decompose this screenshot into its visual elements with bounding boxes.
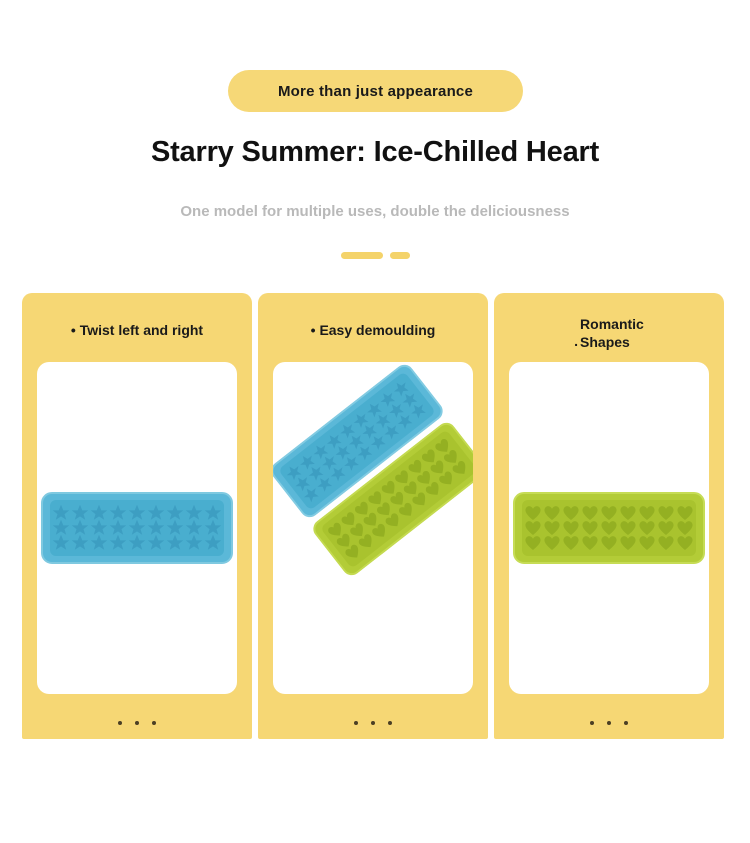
dot — [118, 721, 122, 725]
feature-card-romantic[interactable]: . Romantic Shapes — [494, 293, 724, 739]
divider — [0, 252, 750, 259]
feature-card-title: • Twist left and right — [22, 321, 252, 339]
feature-card-image-panel — [273, 362, 473, 694]
ice-tray-green-heart-icon — [513, 492, 705, 564]
dot — [590, 721, 594, 725]
dot — [388, 721, 392, 725]
dot — [152, 721, 156, 725]
card-dots-indicator[interactable] — [22, 721, 252, 725]
page-title: Starry Summer: Ice-Chilled Heart — [0, 136, 750, 169]
dot — [624, 721, 628, 725]
dot — [135, 721, 139, 725]
card-dots-indicator[interactable] — [494, 721, 724, 725]
feature-card-title: • Easy demoulding — [258, 321, 488, 339]
feature-card-twist[interactable]: • Twist left and right — [22, 293, 252, 739]
feature-card-title-text: Twist left and right — [80, 322, 203, 338]
header-badge-label: More than just appearance — [278, 83, 473, 100]
feature-card-title-text: Easy demoulding — [319, 322, 435, 338]
feature-card-title: . Romantic Shapes — [494, 315, 724, 351]
tray-illustration-star-blue — [37, 362, 237, 694]
bullet-icon: • — [71, 322, 76, 338]
dot — [371, 721, 375, 725]
divider-bar-long — [341, 252, 383, 259]
dot — [607, 721, 611, 725]
promo-page: More than just appearance Starry Summer:… — [0, 0, 750, 843]
tray-illustration-pair — [273, 362, 473, 694]
page-subtitle: One model for multiple uses, double the … — [0, 203, 750, 220]
feature-card-image-panel — [509, 362, 709, 694]
card-dots-indicator[interactable] — [258, 721, 488, 725]
feature-card-title-line1: Romantic — [580, 315, 644, 333]
dot — [354, 721, 358, 725]
header-badge: More than just appearance — [228, 70, 523, 112]
feature-card-title-line2: Shapes — [580, 333, 644, 351]
feature-card-image-panel — [37, 362, 237, 694]
ice-tray-blue-star-icon — [41, 492, 233, 564]
bullet-icon: • — [311, 322, 316, 338]
tray-illustration-heart-green — [509, 362, 709, 694]
feature-card-list: • Twist left and right — [22, 293, 728, 739]
divider-bar-short — [390, 252, 410, 259]
bullet-icon: . — [574, 332, 578, 350]
feature-card-demoulding[interactable]: • Easy demoulding — [258, 293, 488, 739]
